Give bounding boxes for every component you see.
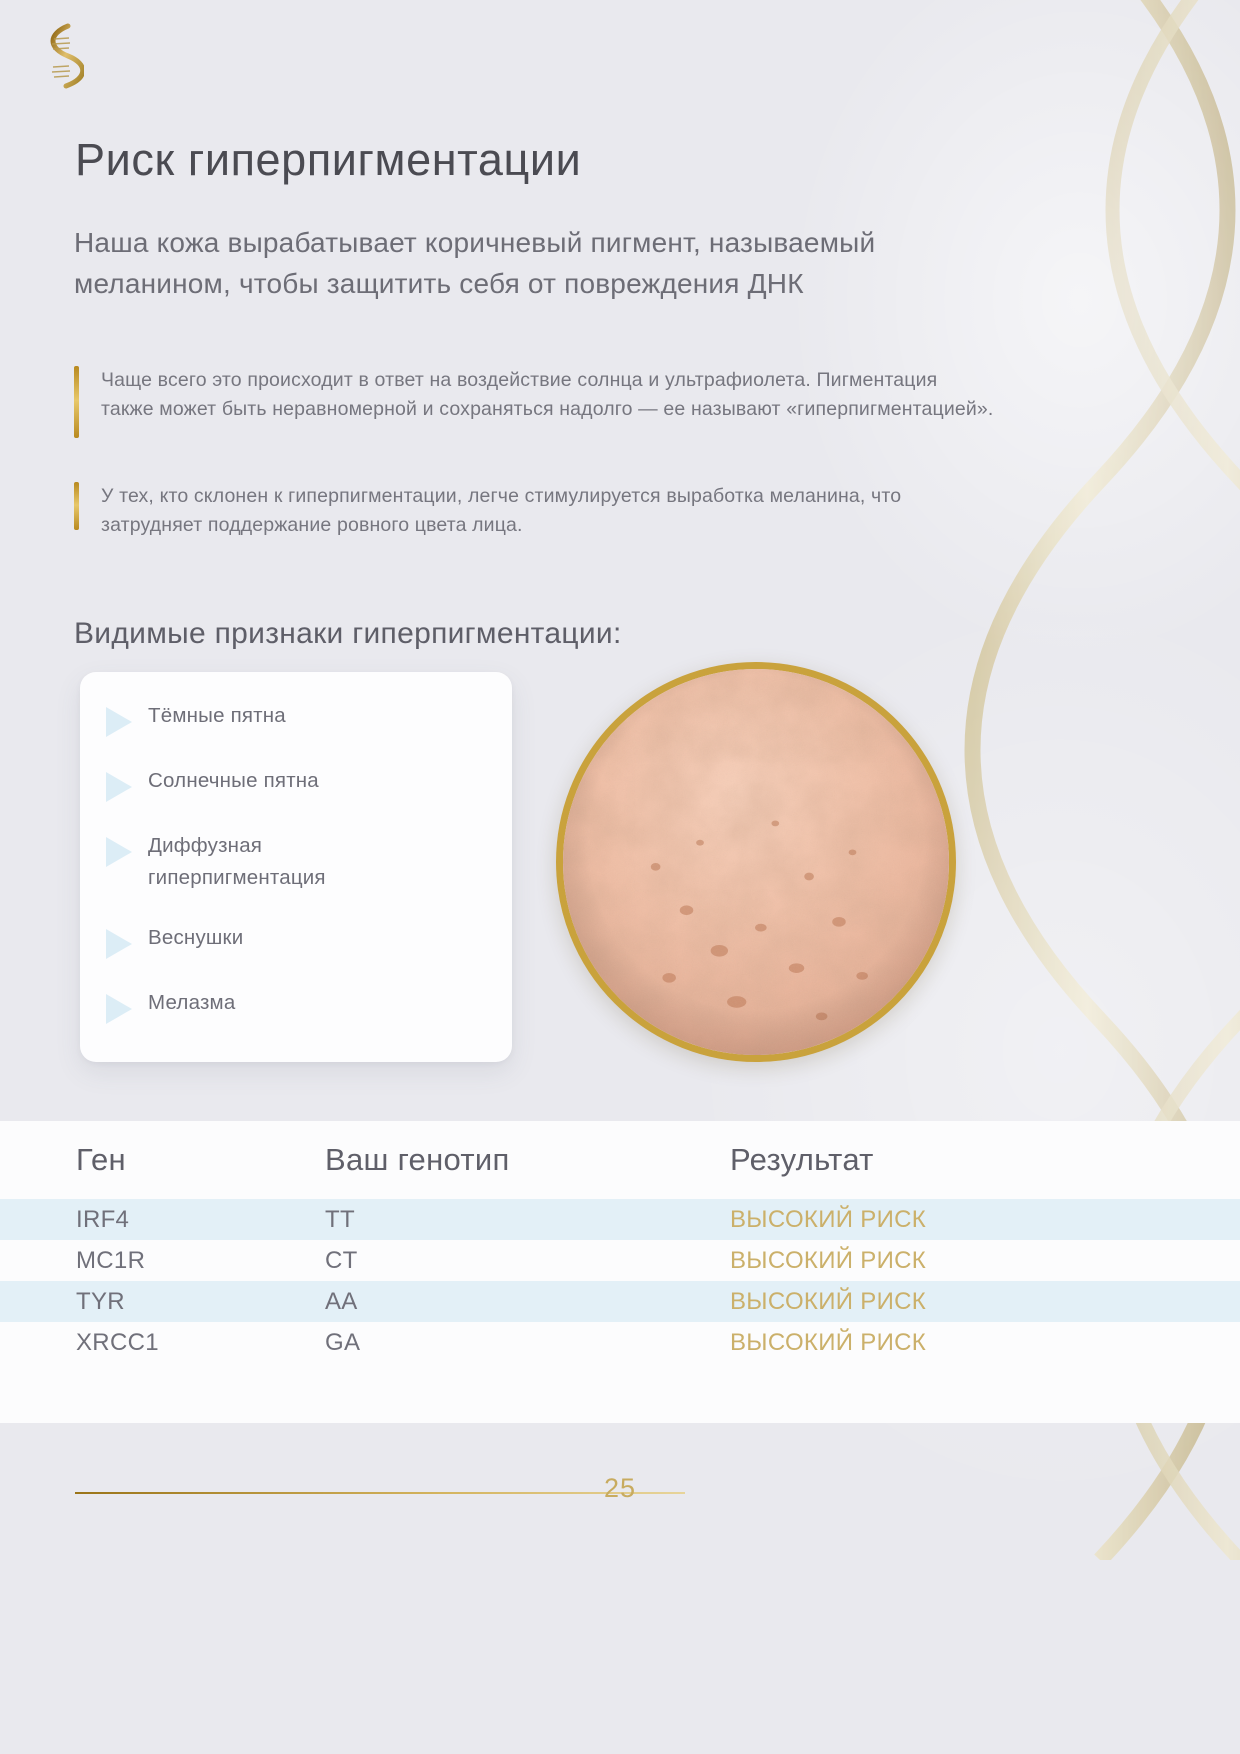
list-item-label: Тёмные пятна <box>148 700 286 732</box>
triangle-right-icon <box>106 837 132 867</box>
table-row: IRF4 TT ВЫСОКИЙ РИСК <box>0 1199 1240 1240</box>
cell-genotype: CT <box>315 1240 720 1281</box>
triangle-right-icon <box>106 929 132 959</box>
cell-result: ВЫСОКИЙ РИСК <box>720 1281 1240 1322</box>
list-item: Веснушки <box>106 922 494 959</box>
table-header-row: Ген Ваш генотип Результат <box>0 1121 1240 1199</box>
cell-result: ВЫСОКИЙ РИСК <box>720 1240 1240 1281</box>
list-item: Мелазма <box>106 987 494 1024</box>
gold-accent-bar <box>74 366 79 438</box>
column-header-result: Результат <box>720 1121 1240 1199</box>
page-number: 25 <box>0 1473 1240 1504</box>
visible-signs-list: Тёмные пятна Солнечные пятна Диффузная г… <box>106 700 494 1024</box>
cell-gene: IRF4 <box>0 1199 315 1240</box>
table-row: MC1R CT ВЫСОКИЙ РИСК <box>0 1240 1240 1281</box>
cell-result: ВЫСОКИЙ РИСК <box>720 1199 1240 1240</box>
list-item-label: Солнечные пятна <box>148 765 319 797</box>
list-item-label: Веснушки <box>148 922 243 954</box>
cell-genotype: TT <box>315 1199 720 1240</box>
table-bottom-spacer <box>0 1363 1240 1423</box>
cell-gene: MC1R <box>0 1240 315 1281</box>
callout-text-2: У тех, кто склонен к гиперпигментации, л… <box>101 482 974 539</box>
dna-helix-icon <box>38 22 84 90</box>
skin-hyperpigmentation-photo <box>556 662 956 1062</box>
intro-paragraph: Наша кожа вырабатывает коричневый пигмен… <box>74 222 974 304</box>
cell-genotype: GA <box>315 1322 720 1363</box>
triangle-right-icon <box>106 707 132 737</box>
gene-results-table: Ген Ваш генотип Результат IRF4 TT ВЫСОКИ… <box>0 1121 1240 1363</box>
callout-text-1: Чаще всего это происходит в ответ на воз… <box>101 366 994 438</box>
callout-block-1: Чаще всего это происходит в ответ на воз… <box>74 366 994 438</box>
list-item-label: Диффузная гиперпигментация <box>148 830 398 894</box>
cell-result: ВЫСОКИЙ РИСК <box>720 1322 1240 1363</box>
section-title: Видимые признаки гиперпигментации: <box>74 617 622 651</box>
list-item: Тёмные пятна <box>106 700 494 737</box>
gene-results-section: Ген Ваш генотип Результат IRF4 TT ВЫСОКИ… <box>0 1121 1240 1423</box>
list-item: Солнечные пятна <box>106 765 494 802</box>
column-header-gene: Ген <box>0 1121 315 1199</box>
list-item: Диффузная гиперпигментация <box>106 830 494 894</box>
cell-gene: TYR <box>0 1281 315 1322</box>
table-row: XRCC1 GA ВЫСОКИЙ РИСК <box>0 1322 1240 1363</box>
table-row: TYR AA ВЫСОКИЙ РИСК <box>0 1281 1240 1322</box>
triangle-right-icon <box>106 772 132 802</box>
gold-accent-bar <box>74 482 79 530</box>
cell-gene: XRCC1 <box>0 1322 315 1363</box>
page-title: Риск гиперпигментации <box>75 134 581 186</box>
callout-block-2: У тех, кто склонен к гиперпигментации, л… <box>74 482 974 539</box>
visible-signs-card: Тёмные пятна Солнечные пятна Диффузная г… <box>80 672 512 1062</box>
triangle-right-icon <box>106 994 132 1024</box>
list-item-label: Мелазма <box>148 987 235 1019</box>
column-header-genotype: Ваш генотип <box>315 1121 720 1199</box>
cell-genotype: AA <box>315 1281 720 1322</box>
